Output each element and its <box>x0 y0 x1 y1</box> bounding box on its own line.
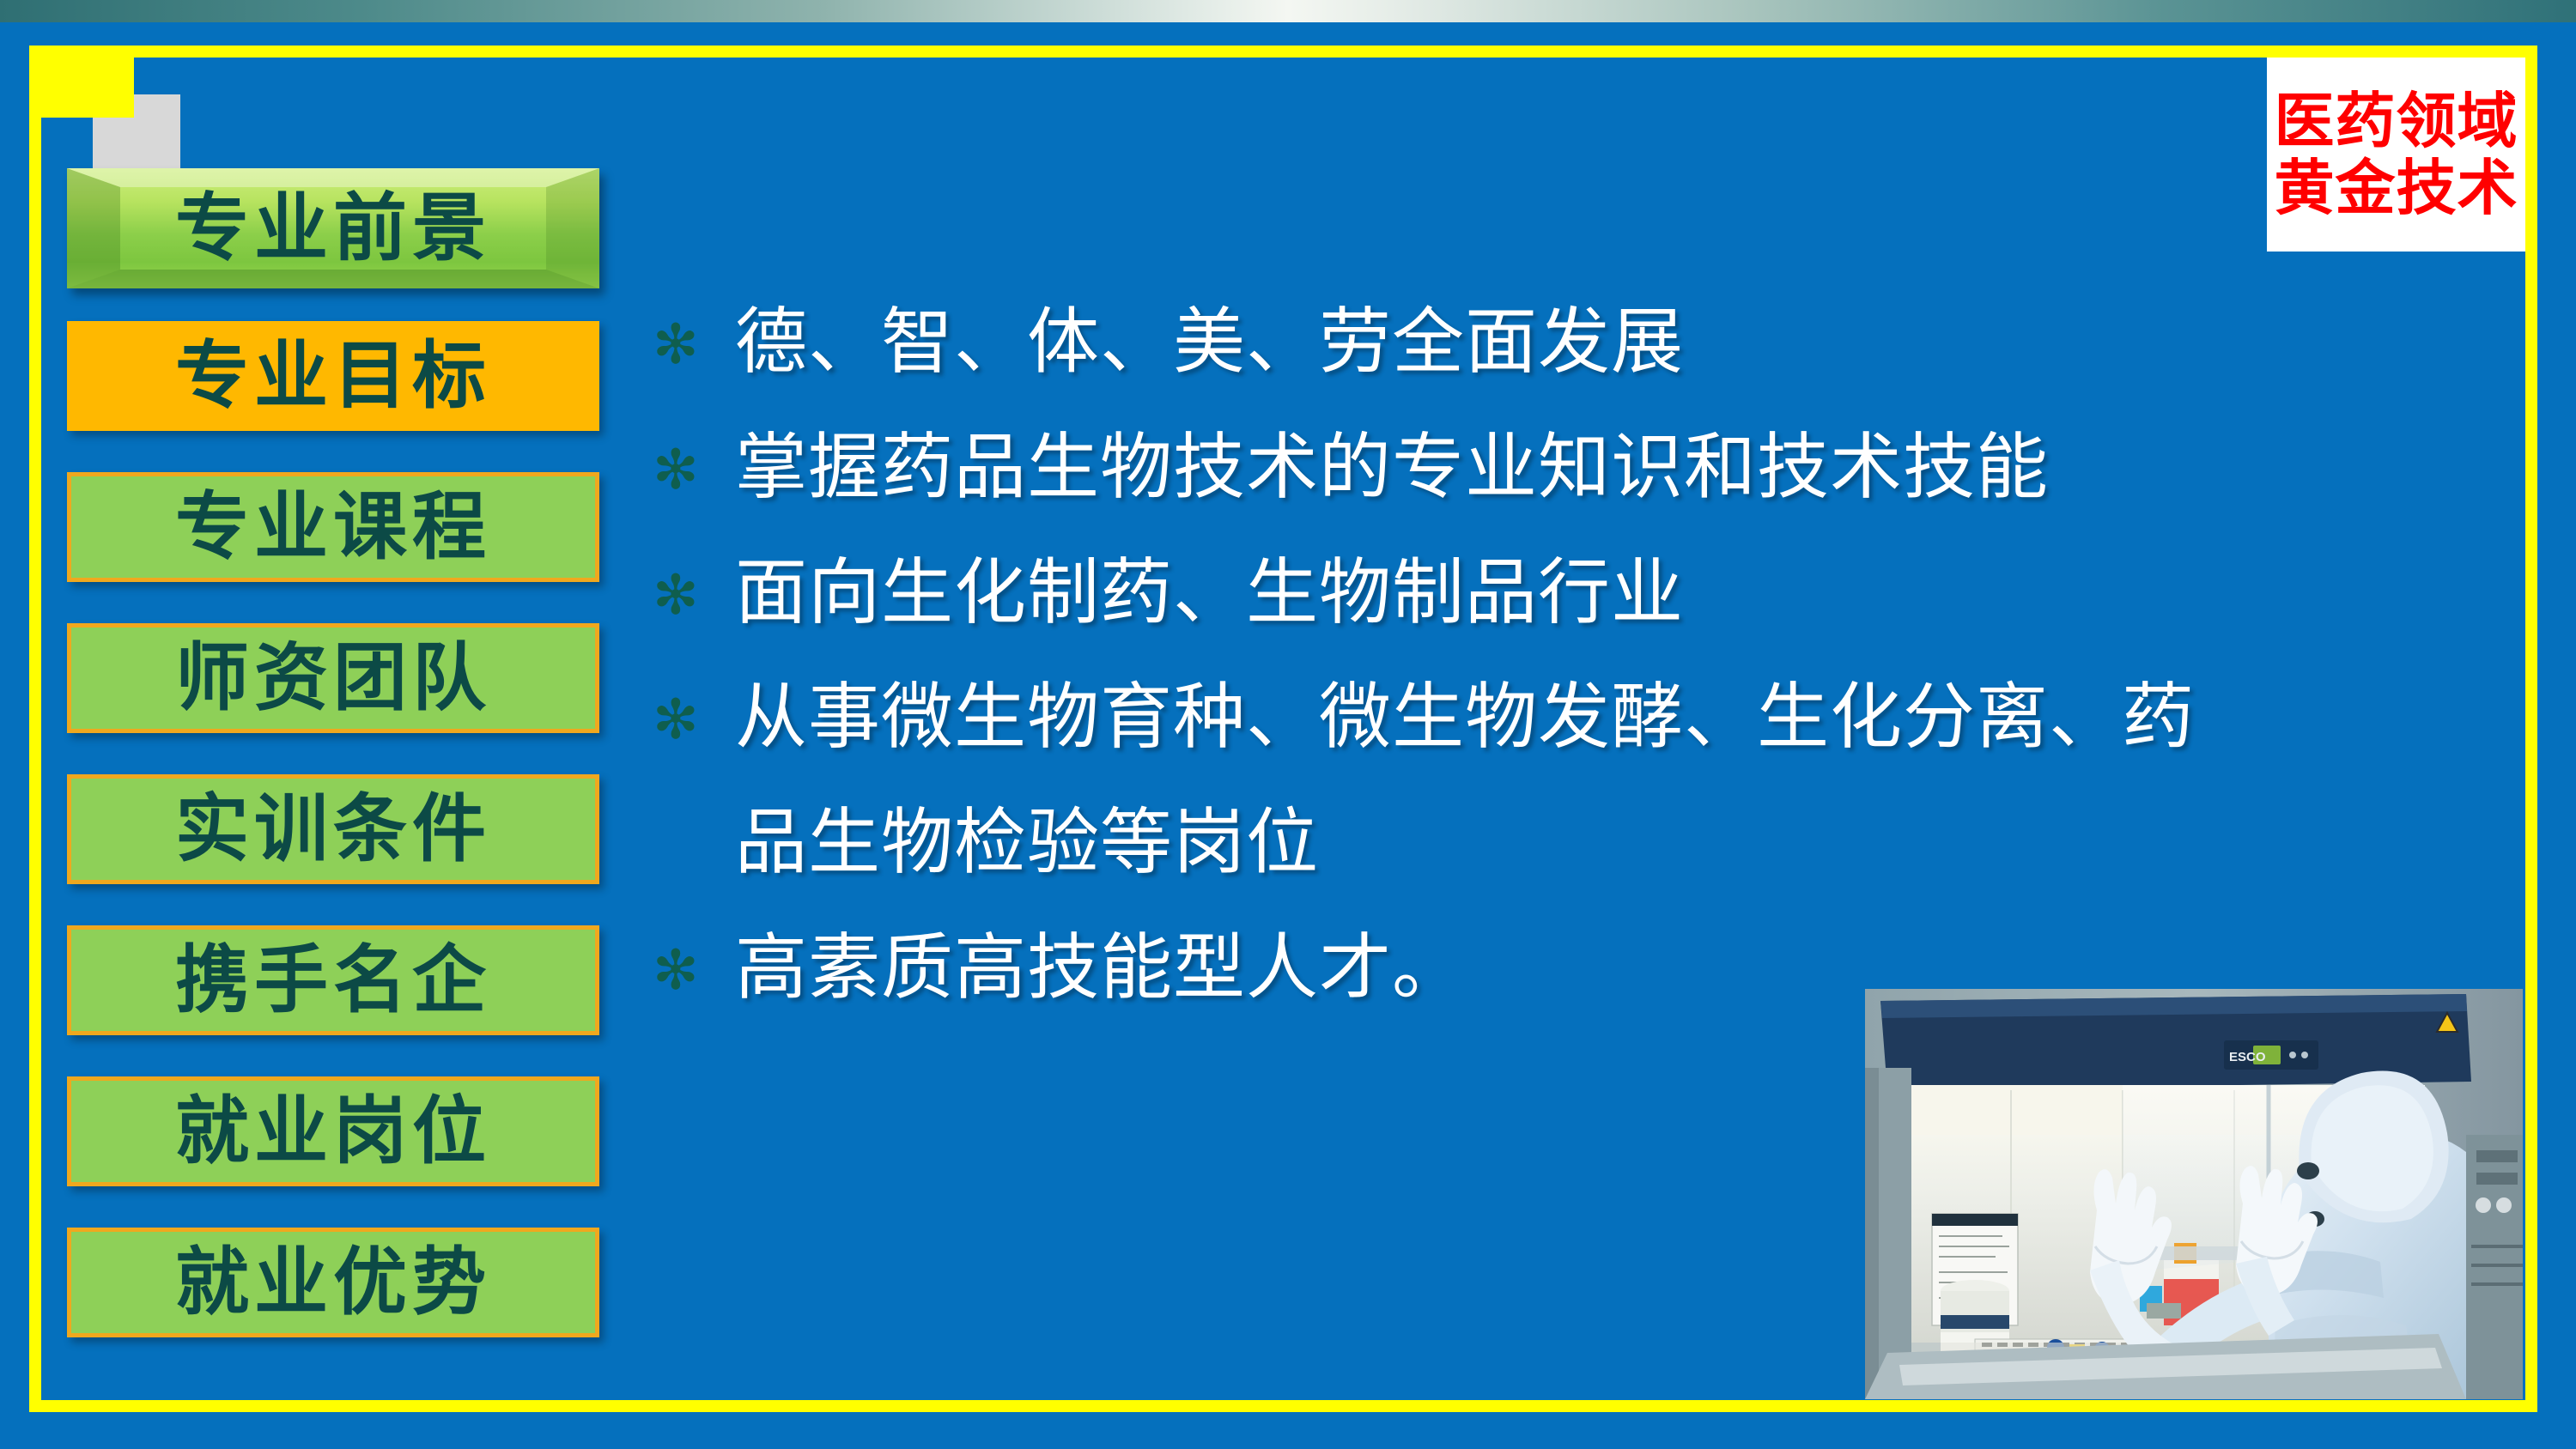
sidebar-item-label: 专业目标 <box>175 339 491 413</box>
sidebar-item-shixun-tiaojian[interactable]: 实训条件 <box>67 774 599 884</box>
top-gradient-bar <box>0 0 2576 22</box>
presentation-slide: 专业前景 专业目标 专业课程 师资团队 实训条件 携手名企 就业岗位 就业优势 … <box>0 0 2576 1449</box>
bullet-spacer <box>653 791 735 806</box>
sidebar-item-xieshou-mingqi[interactable]: 携手名企 <box>67 925 599 1035</box>
list-item: ✻ 从事微生物育种、微生物发酵、生化分离、药 <box>653 665 2353 770</box>
frame-border-top <box>29 45 2537 58</box>
list-item-text: 面向生化制药、生物制品行业 <box>735 541 2353 646</box>
list-item-text: 品生物检验等岗位 <box>735 791 2353 895</box>
list-item: ✻ 面向生化制药、生物制品行业 <box>653 541 2353 646</box>
list-item-continuation: 品生物检验等岗位 <box>653 791 2353 895</box>
lab-biosafety-cabinet-photo: ESCO <box>1865 989 2523 1399</box>
status-badge: 医药领域 黄金技术 <box>2267 58 2525 252</box>
sidebar-item-jiuye-gangwei[interactable]: 就业岗位 <box>67 1076 599 1186</box>
sidebar-item-label: 师资团队 <box>175 641 491 715</box>
list-item-text: 德、智、体、美、劳全面发展 <box>735 290 2353 395</box>
sidebar-item-zhuanye-mubiao[interactable]: 专业目标 <box>67 321 599 431</box>
list-item-text: 从事微生物育种、微生物发酵、生化分离、药 <box>735 665 2353 770</box>
asterisk-bullet-icon: ✻ <box>653 541 735 636</box>
sidebar-item-label: 专业课程 <box>175 490 491 564</box>
bullet-list: ✻ 德、智、体、美、劳全面发展 ✻ 掌握药品生物技术的专业知识和技术技能 ✻ 面… <box>653 290 2353 1041</box>
badge-line-2: 黄金技术 <box>2275 155 2518 221</box>
device-brand-label: ESCO <box>2229 1050 2266 1064</box>
sidebar-item-label: 就业优势 <box>175 1246 491 1319</box>
list-item-text: 掌握药品生物技术的专业知识和技术技能 <box>735 415 2353 520</box>
frame-border-bottom <box>29 1400 2537 1412</box>
list-item: ✻ 掌握药品生物技术的专业知识和技术技能 <box>653 415 2353 520</box>
badge-line-1: 医药领域 <box>2275 88 2518 155</box>
sidebar-item-shizi-tuandui[interactable]: 师资团队 <box>67 623 599 733</box>
asterisk-bullet-icon: ✻ <box>653 665 735 761</box>
lab-photo-illustration: ESCO <box>1865 989 2523 1399</box>
frame-border-right <box>2525 45 2537 1412</box>
sidebar-nav: 专业前景 专业目标 专业课程 师资团队 实训条件 携手名企 就业岗位 就业优势 <box>67 168 599 1379</box>
list-item: ✻ 德、智、体、美、劳全面发展 <box>653 290 2353 395</box>
sidebar-item-label: 专业前景 <box>175 191 491 265</box>
frame-border-left <box>29 45 41 1412</box>
asterisk-bullet-icon: ✻ <box>653 415 735 511</box>
sidebar-item-zhuanye-qianjing[interactable]: 专业前景 <box>67 168 599 288</box>
asterisk-bullet-icon: ✻ <box>653 916 735 1011</box>
sidebar-item-label: 实训条件 <box>175 792 491 866</box>
asterisk-bullet-icon: ✻ <box>653 290 735 385</box>
sidebar-item-label: 就业岗位 <box>175 1094 491 1168</box>
sidebar-item-label: 携手名企 <box>175 943 491 1017</box>
sidebar-item-jiuye-youshi[interactable]: 就业优势 <box>67 1228 599 1337</box>
decorative-yellow-square <box>29 45 134 118</box>
sidebar-item-zhuanye-kecheng[interactable]: 专业课程 <box>67 472 599 582</box>
